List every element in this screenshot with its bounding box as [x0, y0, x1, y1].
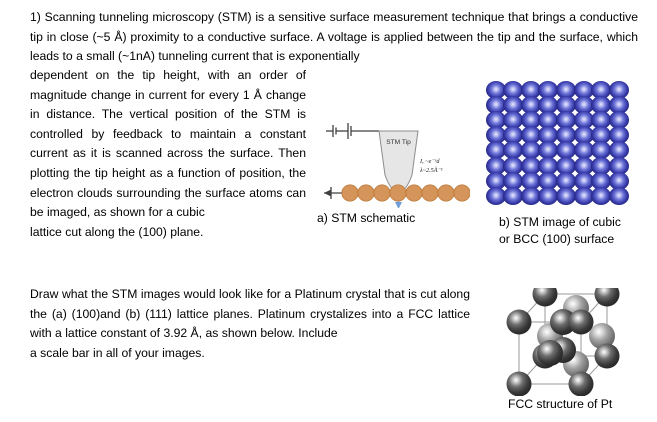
paragraph-2-task: Draw what the STM images would look like…: [30, 285, 470, 363]
caption-stm-image: b) STM image of cubic or BCC (100) surfa…: [499, 214, 657, 248]
tunneling-formula-line-1: Iₑ ~e⁻ᵛd: [419, 158, 440, 165]
tunneling-formula-line-2: λ~2.5Å⁻¹: [419, 166, 443, 174]
paragraph-1-last-line: lattice cut along the (100) plane.: [30, 223, 306, 243]
fcc-unit-cell-figure: [505, 288, 635, 396]
paragraph-2-body: Draw what the STM images would look like…: [30, 287, 470, 340]
caption-stm-schematic: a) STM schematic: [317, 210, 467, 227]
paragraph-1-continued: dependent on the tip height, with an ord…: [30, 66, 306, 242]
stm-atom: [609, 187, 629, 205]
fcc-face-atom-front: [537, 340, 563, 366]
caption-fcc-structure: FCC structure of Pt: [508, 396, 657, 413]
stm-schematic-figure: STM Tip Iₑ ~e⁻ᵛd λ~2.5Å⁻¹: [320, 112, 470, 208]
stm-atom: [556, 187, 576, 205]
sample-lead-icon: [324, 187, 344, 199]
paragraph-2-last-line: a scale bar in all of your images.: [30, 344, 470, 364]
voltage-source-icon: [326, 123, 379, 139]
stm-image-cubic-surface: [485, 80, 629, 204]
stm-atom-grid: [485, 80, 629, 204]
stm-tip-label: STM Tip: [386, 139, 411, 146]
paragraph-1-continued-body: dependent on the tip height, with an ord…: [30, 68, 306, 219]
caption-stm-image-line-1: b) STM image of cubic: [499, 214, 657, 231]
paragraph-1-intro: 1) Scanning tunneling microscopy (STM) i…: [30, 8, 638, 67]
caption-stm-image-line-2: or BCC (100) surface: [499, 231, 657, 248]
